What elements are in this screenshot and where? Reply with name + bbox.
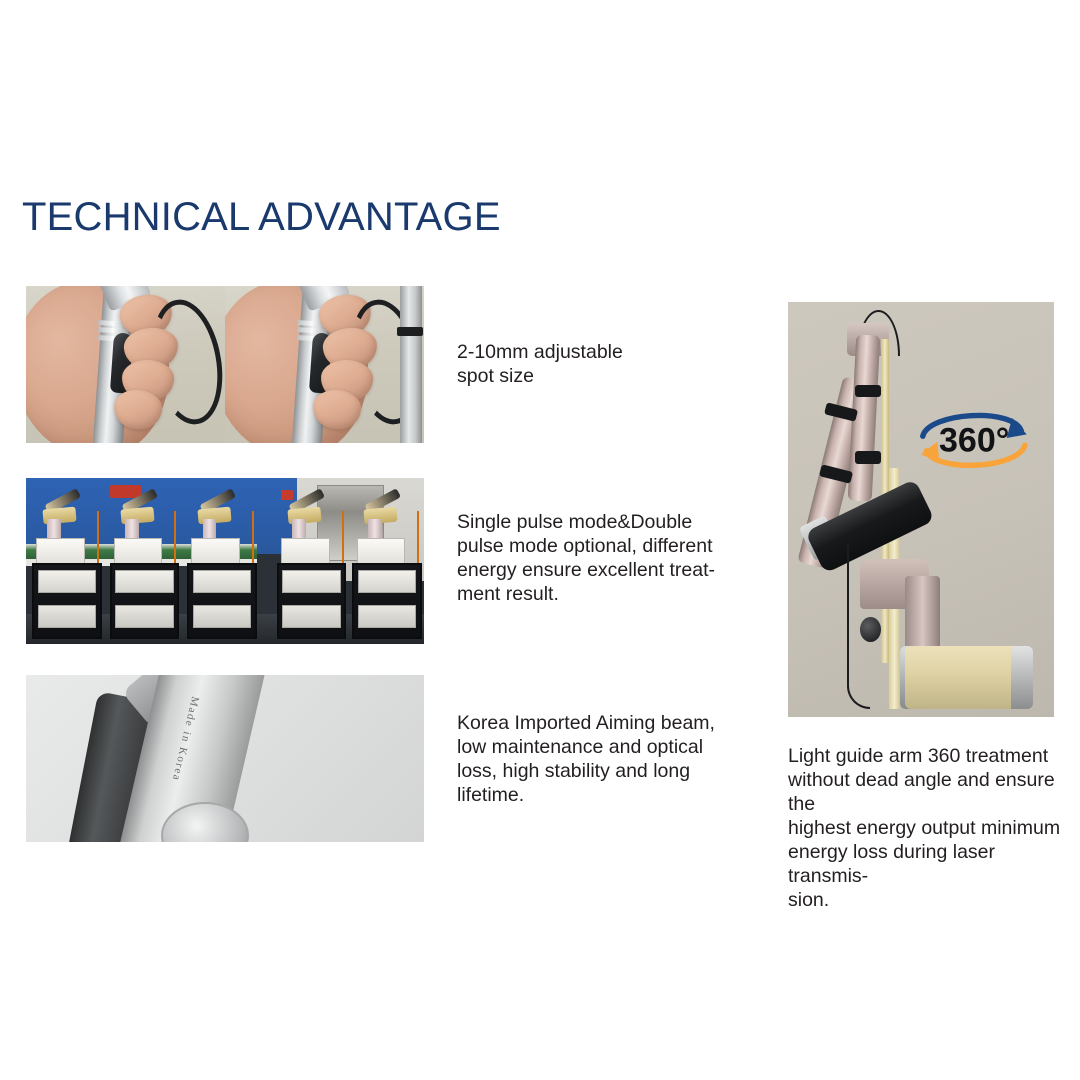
machine-drawer (282, 605, 340, 628)
machine-wiring (342, 511, 344, 563)
machine-drawer (115, 605, 173, 628)
machine-drawer (358, 570, 416, 593)
machine-drawer (115, 570, 173, 593)
grip-photo-right-half (225, 286, 424, 443)
machine-wiring (97, 511, 99, 563)
badge-360-label: 360° (939, 422, 1009, 461)
feature-text-light-guide-arm: Light guide arm 360 treatment without de… (788, 744, 1078, 912)
assembly-machine (277, 503, 347, 639)
base-cylinder (905, 646, 1025, 708)
machine-drawer (193, 570, 251, 593)
machine-drawer (38, 570, 96, 593)
red-sign (281, 490, 293, 500)
machine-drawer (193, 605, 251, 628)
technical-advantage-page: TECHNICAL ADVANTAGE (0, 0, 1080, 1080)
light-guide-arm-photo: 360° (788, 302, 1054, 717)
feature-text-pulse-mode: Single pulse mode&Double pulse mode opti… (457, 510, 757, 606)
handpiece-grip-photo (26, 286, 424, 443)
handpiece-korea-photo: Made in Korea (26, 675, 424, 842)
machine-drawer (358, 605, 416, 628)
assembly-machine (32, 503, 102, 639)
machine-wiring (252, 511, 254, 563)
machine-body (114, 538, 163, 565)
machine-body (36, 538, 85, 565)
rotation-360-badge: 360° (910, 385, 1038, 493)
feature-text-aiming-beam: Korea Imported Aiming beam, low maintena… (457, 711, 757, 807)
stand-clamp (397, 327, 423, 336)
production-line-photo (26, 478, 424, 644)
arm-clamp (855, 451, 882, 463)
machine-drawer (38, 605, 96, 628)
feature-text-spot-size: 2-10mm adjustable spot size (457, 340, 757, 388)
assembly-machine (110, 503, 180, 639)
machine-wiring (417, 511, 419, 563)
machine-body (191, 538, 240, 565)
grip-photo-left-half (26, 286, 225, 443)
machine-drawer (282, 570, 340, 593)
machine-body (281, 538, 330, 565)
hanging-cable (847, 543, 871, 709)
stand-pole (400, 286, 422, 443)
arm-clamp (855, 385, 882, 397)
assembly-machine (352, 503, 422, 639)
machine-wiring (174, 511, 176, 563)
machine-body (357, 538, 406, 565)
assembly-machine (187, 503, 257, 639)
page-title: TECHNICAL ADVANTAGE (22, 195, 501, 240)
base-cap-right (1011, 646, 1032, 708)
